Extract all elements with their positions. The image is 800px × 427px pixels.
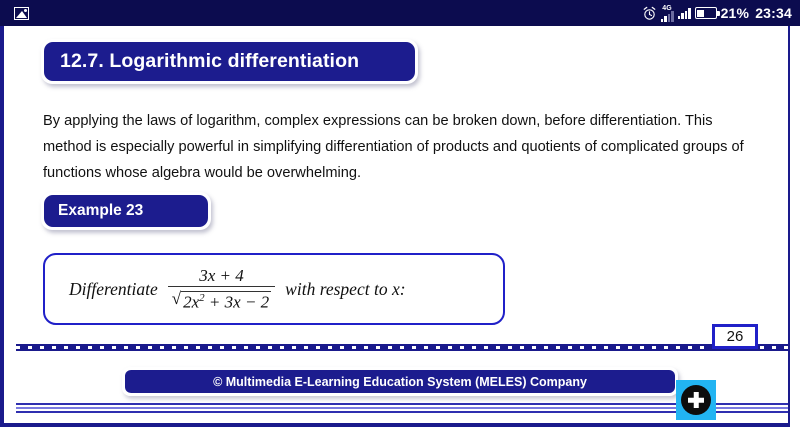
fraction-denominator: √ 2x2 + 3x − 2 [168, 286, 275, 311]
footer-banner: © Multimedia E-Learning Education System… [122, 367, 678, 396]
copyright-label: © Multimedia E-Learning Education System… [125, 370, 675, 393]
fraction-numerator: 3x + 4 [193, 266, 250, 286]
square-root: √ 2x2 + 3x − 2 [172, 289, 271, 311]
network-type-icon: 4G [661, 5, 674, 22]
example-label: Example 23 [44, 195, 208, 227]
signal-bars-icon [678, 8, 691, 19]
alarm-clock-icon [642, 6, 657, 21]
slide-frame: 12.7. Logarithmic differentiation By app… [0, 26, 790, 427]
page-title: 12.7. Logarithmic differentiation [44, 42, 415, 81]
slide-content: 12.7. Logarithmic differentiation By app… [10, 26, 788, 423]
status-bar-left-group [14, 7, 29, 20]
page-number: 26 [712, 324, 758, 349]
battery-percent-label: 21% [721, 5, 750, 21]
battery-icon [695, 7, 717, 19]
android-status-bar: 4G 21% 23:34 [0, 0, 800, 26]
formula-trail: with respect to x: [285, 279, 405, 300]
formula-box: Differentiate 3x + 4 √ 2x2 + 3x − 2 with… [43, 253, 505, 325]
math-expression: Differentiate 3x + 4 √ 2x2 + 3x − 2 with… [69, 266, 406, 311]
radicand-exponent: 2 [199, 292, 205, 304]
section-divider [16, 344, 788, 351]
clock-label: 23:34 [755, 5, 792, 21]
plus-icon [681, 385, 711, 415]
app-screen: 4G 21% 23:34 12.7. Logarithmic different… [0, 0, 800, 427]
frame-inner-rule [6, 26, 8, 423]
data-signal-bars-icon [661, 11, 674, 22]
photo-icon [14, 7, 29, 20]
add-button[interactable] [676, 380, 716, 420]
divider-dots [16, 346, 788, 349]
bottom-rules [16, 403, 788, 415]
body-paragraph: By applying the laws of logarithm, compl… [43, 108, 759, 186]
radicand-prefix: 2x [183, 293, 199, 312]
radicand: 2x2 + 3x − 2 [181, 291, 271, 312]
status-bar-right-group: 4G 21% 23:34 [642, 5, 792, 22]
slide-title-banner: 12.7. Logarithmic differentiation [41, 39, 418, 84]
radical-sign: √ [172, 289, 181, 311]
fraction: 3x + 4 √ 2x2 + 3x − 2 [168, 266, 275, 311]
radicand-rest: + 3x − 2 [209, 293, 269, 312]
example-banner: Example 23 [41, 192, 211, 230]
formula-lead: Differentiate [69, 279, 158, 300]
